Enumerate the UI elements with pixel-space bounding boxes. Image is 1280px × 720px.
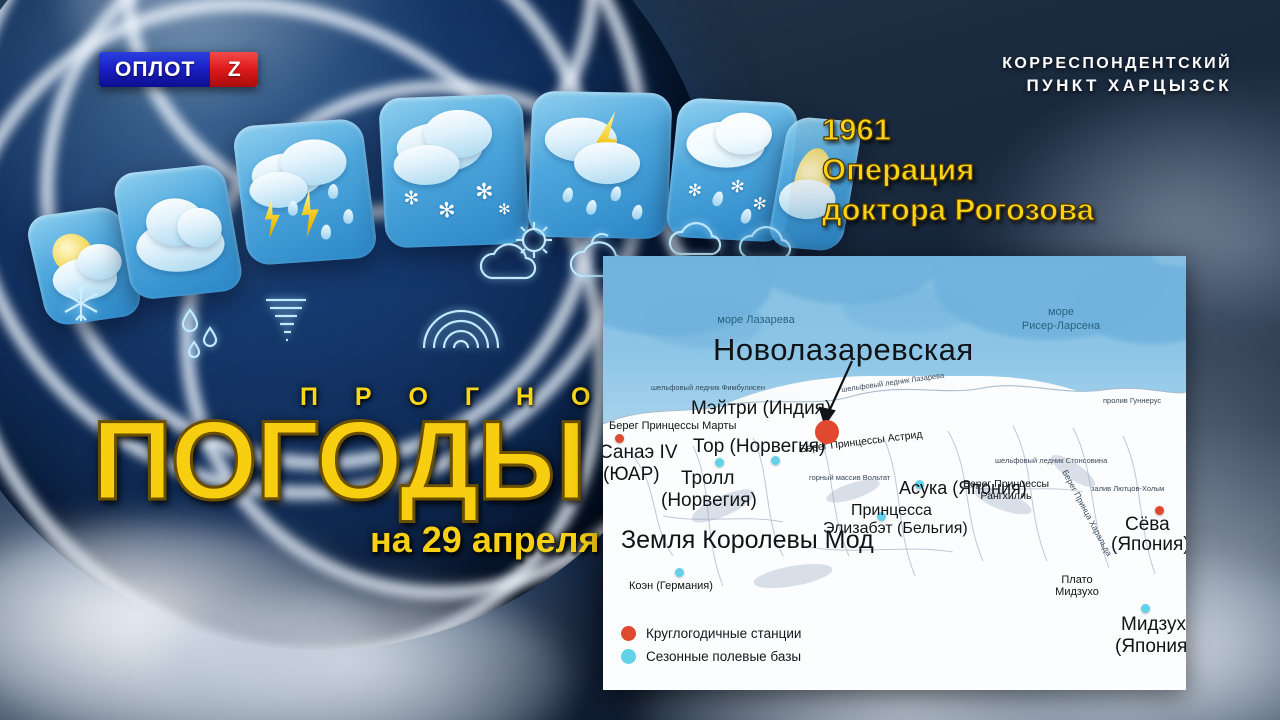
station-label-sanae-1: Санаэ IV bbox=[603, 442, 678, 464]
weather-tile-cloud bbox=[111, 163, 245, 301]
station-label-troll-1: Тролл bbox=[681, 468, 734, 490]
map-title-novolazarevskaya: Новолазаревская bbox=[713, 332, 974, 368]
sun-cloud-icon bbox=[474, 220, 564, 284]
station-label-kohnen: Коэн (Германия) bbox=[629, 580, 713, 592]
station-label-elisabeth-1: Принцесса bbox=[851, 502, 932, 520]
station-label-troll-2: (Норвегия) bbox=[661, 490, 757, 512]
geo-label-stonsovina-shelf: шельфовый ледник Стонсовина bbox=[995, 456, 1085, 466]
station-label-mizuho-1: Мидзухо bbox=[1121, 614, 1186, 636]
station-marker-novolazarevskaya[interactable] bbox=[815, 420, 839, 444]
headline-year: 1961 bbox=[822, 110, 1094, 150]
station-label-sanae-2: (ЮАР) bbox=[603, 464, 660, 486]
weather-tile-lightning-cloud-rain bbox=[527, 91, 672, 239]
logo-z-badge: Z bbox=[210, 52, 258, 87]
sea-label-riiser-larsen-line2: Рисер-Ларсена bbox=[1001, 320, 1121, 334]
station-marker-kohnen[interactable] bbox=[675, 568, 684, 577]
broadcast-frame: ✻ ✻ ✻ ✻ ✻ ✻ ✻ bbox=[0, 0, 1280, 720]
station-label-elisabeth-2: Элизабэт (Бельгия) bbox=[823, 520, 968, 538]
geo-label-voltat-massif: горный массив Вольтат bbox=[809, 472, 871, 483]
correspondent-point: КОРРЕСПОНДЕНТСКИЙ ПУНКТ ХАРЦЫЗСК bbox=[1002, 53, 1232, 98]
raindrops-icon bbox=[178, 302, 224, 360]
headline-block: 1961 Операция доктора Рогозова bbox=[822, 110, 1094, 230]
geo-label-lutzow-holm-bay: залив Лютцов-Хольм bbox=[1091, 484, 1161, 494]
forecast-date: на 29 апреля bbox=[370, 519, 599, 561]
sea-label-riiser-larsen-line1: море bbox=[1001, 306, 1121, 320]
antarctica-map-panel: море Лазарева море Рисер-Ларсена Новолаз… bbox=[603, 256, 1186, 690]
sea-shade bbox=[843, 286, 973, 332]
snowflake-icon bbox=[60, 282, 102, 324]
geo-label-mizuho-plateau: Плато Мидзухо bbox=[1047, 574, 1107, 598]
station-label-thor: Тор (Норвегия) bbox=[693, 436, 825, 458]
channel-logo[interactable]: ОПЛОТ Z bbox=[99, 52, 258, 87]
legend-row-seasonal: Сезонные полевые базы bbox=[621, 649, 801, 664]
geo-label-princess-martha-coast: Берег Принцессы Марты bbox=[609, 420, 736, 432]
station-marker-mizuho[interactable] bbox=[1141, 604, 1150, 613]
correspondent-line1: КОРРЕСПОНДЕНТСКИЙ bbox=[1002, 53, 1232, 75]
legend-swatch-red bbox=[621, 626, 636, 641]
legend-label-seasonal: Сезонные полевые базы bbox=[646, 649, 801, 664]
legend-swatch-cyan bbox=[621, 649, 636, 664]
station-label-mizuho-2: (Япония) bbox=[1115, 636, 1186, 658]
pogody-title: ПОГОДЫ bbox=[92, 405, 585, 517]
tornado-icon bbox=[260, 292, 312, 348]
logo-text: ОПЛОТ bbox=[99, 52, 210, 87]
sea-label-lazarev: море Лазарева bbox=[696, 314, 816, 328]
headline-line3: доктора Рогозова bbox=[822, 190, 1094, 230]
legend-label-year-round: Круглогодичные станции bbox=[646, 626, 801, 641]
geo-label-gunnerus-strait: пролив Гуннерус bbox=[1103, 396, 1161, 406]
station-label-syowa-1: Сёва bbox=[1125, 514, 1170, 536]
geo-label-fimbulisen: шельфовый ледник Фимбулисен bbox=[651, 383, 731, 393]
legend-row-year-round: Круглогодичные станции bbox=[621, 626, 801, 641]
correspondent-line2: ПУНКТ ХАРЦЫЗСК bbox=[1002, 75, 1232, 98]
station-marker-troll[interactable] bbox=[715, 458, 724, 467]
station-label-maitri: Мэйтри (Индия) bbox=[691, 398, 831, 420]
weather-tile-thunderstorm-rain bbox=[232, 118, 379, 266]
headline-line2: Операция bbox=[822, 150, 1094, 190]
station-label-syowa-2: (Япония) bbox=[1111, 534, 1186, 556]
map-legend: Круглогодичные станции Сезонные полевые … bbox=[621, 626, 801, 672]
station-label-asuka: Асука (Япония) bbox=[899, 478, 1027, 499]
rainbow-icon bbox=[418, 296, 504, 352]
